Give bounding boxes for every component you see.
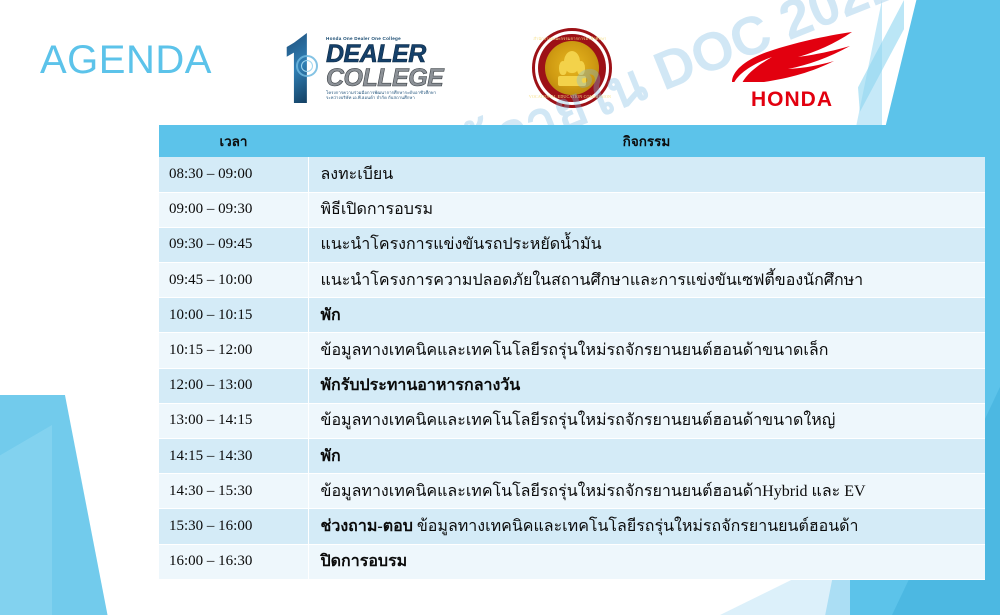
cell-time: 09:00 – 09:30 xyxy=(159,192,308,227)
cell-activity: ข้อมูลทางเทคนิคและเทคโนโลยีรถรุ่นใหม่รถจ… xyxy=(308,333,985,368)
cell-activity: ปิดการอบรม xyxy=(308,544,985,579)
column-header-activity: กิจกรรม xyxy=(308,125,985,157)
cell-time: 09:45 – 10:00 xyxy=(159,263,308,298)
agenda-table-container: เวลา กิจกรรม 08:30 – 09:00ลงทะเบียน09:00… xyxy=(159,125,985,580)
table-header-row: เวลา กิจกรรม xyxy=(159,125,985,157)
dealer-college-subline-2: ระหว่างบริษัท เอ.พี.ฮอนด้า จำกัด กับสถาน… xyxy=(326,95,443,100)
table-row: 12:00 – 13:00พักรับประทานอาหารกลางวัน xyxy=(159,368,985,403)
dealer-college-logo: Honda One Dealer One College DEALER COLL… xyxy=(284,26,424,110)
honda-wing-icon xyxy=(724,30,860,88)
bg-shape-left-triangle xyxy=(0,395,112,615)
table-row: 14:30 – 15:30ข้อมูลทางเทคนิคและเทคโนโลยี… xyxy=(159,474,985,509)
cell-activity: ข้อมูลทางเทคนิคและเทคโนโลยีรถรุ่นใหม่รถจ… xyxy=(308,403,985,438)
dealer-college-word-bottom: COLLEGE xyxy=(326,66,443,90)
activity-emphasis: ช่วงถาม-ตอบ xyxy=(321,518,413,535)
cell-time: 13:00 – 14:15 xyxy=(159,403,308,438)
cell-activity: พิธีเปิดการอบรม xyxy=(308,192,985,227)
cell-activity: แนะนำโครงการความปลอดภัยในสถานศึกษาและการ… xyxy=(308,263,985,298)
dealer-college-subline-1: โครงการความร่วมมือการพัฒนาการศึกษาระดับอ… xyxy=(326,90,443,95)
honda-wordmark: HONDA xyxy=(724,88,860,112)
table-row: 16:00 – 16:30ปิดการอบรม xyxy=(159,544,985,579)
logo-bar: Honda One Dealer One College DEALER COLL… xyxy=(278,18,878,118)
cell-activity: พัก xyxy=(308,439,985,474)
cell-activity: ช่วงถาม-ตอบ ข้อมูลทางเทคนิคและเทคโนโลยีร… xyxy=(308,509,985,544)
cell-activity: แนะนำโครงการแข่งขันรถประหยัดน้ำมัน xyxy=(308,227,985,262)
cell-time: 12:00 – 13:00 xyxy=(159,368,308,403)
table-row: 10:00 – 10:15พัก xyxy=(159,298,985,333)
cell-time: 08:30 – 09:00 xyxy=(159,157,308,192)
table-row: 08:30 – 09:00ลงทะเบียน xyxy=(159,157,985,192)
bg-shape-left-triangle-light xyxy=(0,425,52,615)
cell-time: 10:00 – 10:15 xyxy=(159,298,308,333)
cell-time: 10:15 – 12:00 xyxy=(159,333,308,368)
table-row: 09:45 – 10:00แนะนำโครงการความปลอดภัยในสถ… xyxy=(159,263,985,298)
table-row: 14:15 – 14:30พัก xyxy=(159,439,985,474)
table-row: 15:30 – 16:00ช่วงถาม-ตอบ ข้อมูลทางเทคนิค… xyxy=(159,509,985,544)
honda-logo: HONDA xyxy=(718,26,868,112)
national-education-commission-seal-icon: สำนักงานคณะกรรมการการอาชีวศึกษา VOCATION… xyxy=(522,26,618,110)
cell-time: 15:30 – 16:00 xyxy=(159,509,308,544)
column-header-time: เวลา xyxy=(159,125,308,157)
table-row: 13:00 – 14:15ข้อมูลทางเทคนิคและเทคโนโลยี… xyxy=(159,403,985,438)
dealer-college-numeral-icon xyxy=(284,31,324,105)
cell-time: 09:30 – 09:45 xyxy=(159,227,308,262)
cell-activity: พักรับประทานอาหารกลางวัน xyxy=(308,368,985,403)
cell-activity: ข้อมูลทางเทคนิคและเทคโนโลยีรถรุ่นใหม่รถจ… xyxy=(308,474,985,509)
table-row: 09:00 – 09:30พิธีเปิดการอบรม xyxy=(159,192,985,227)
dealer-college-word-top: DEALER xyxy=(326,42,443,66)
cell-activity: พัก xyxy=(308,298,985,333)
agenda-table: เวลา กิจกรรม 08:30 – 09:00ลงทะเบียน09:00… xyxy=(159,125,985,580)
agenda-slide: AGENDA Honda One Dealer One College DEAL… xyxy=(0,0,1000,615)
cell-time: 14:30 – 15:30 xyxy=(159,474,308,509)
page-title: AGENDA xyxy=(40,38,212,83)
cell-activity: ลงทะเบียน xyxy=(308,157,985,192)
table-row: 09:30 – 09:45แนะนำโครงการแข่งขันรถประหยั… xyxy=(159,227,985,262)
cell-time: 14:15 – 14:30 xyxy=(159,439,308,474)
table-row: 10:15 – 12:00ข้อมูลทางเทคนิคและเทคโนโลยี… xyxy=(159,333,985,368)
cell-time: 16:00 – 16:30 xyxy=(159,544,308,579)
